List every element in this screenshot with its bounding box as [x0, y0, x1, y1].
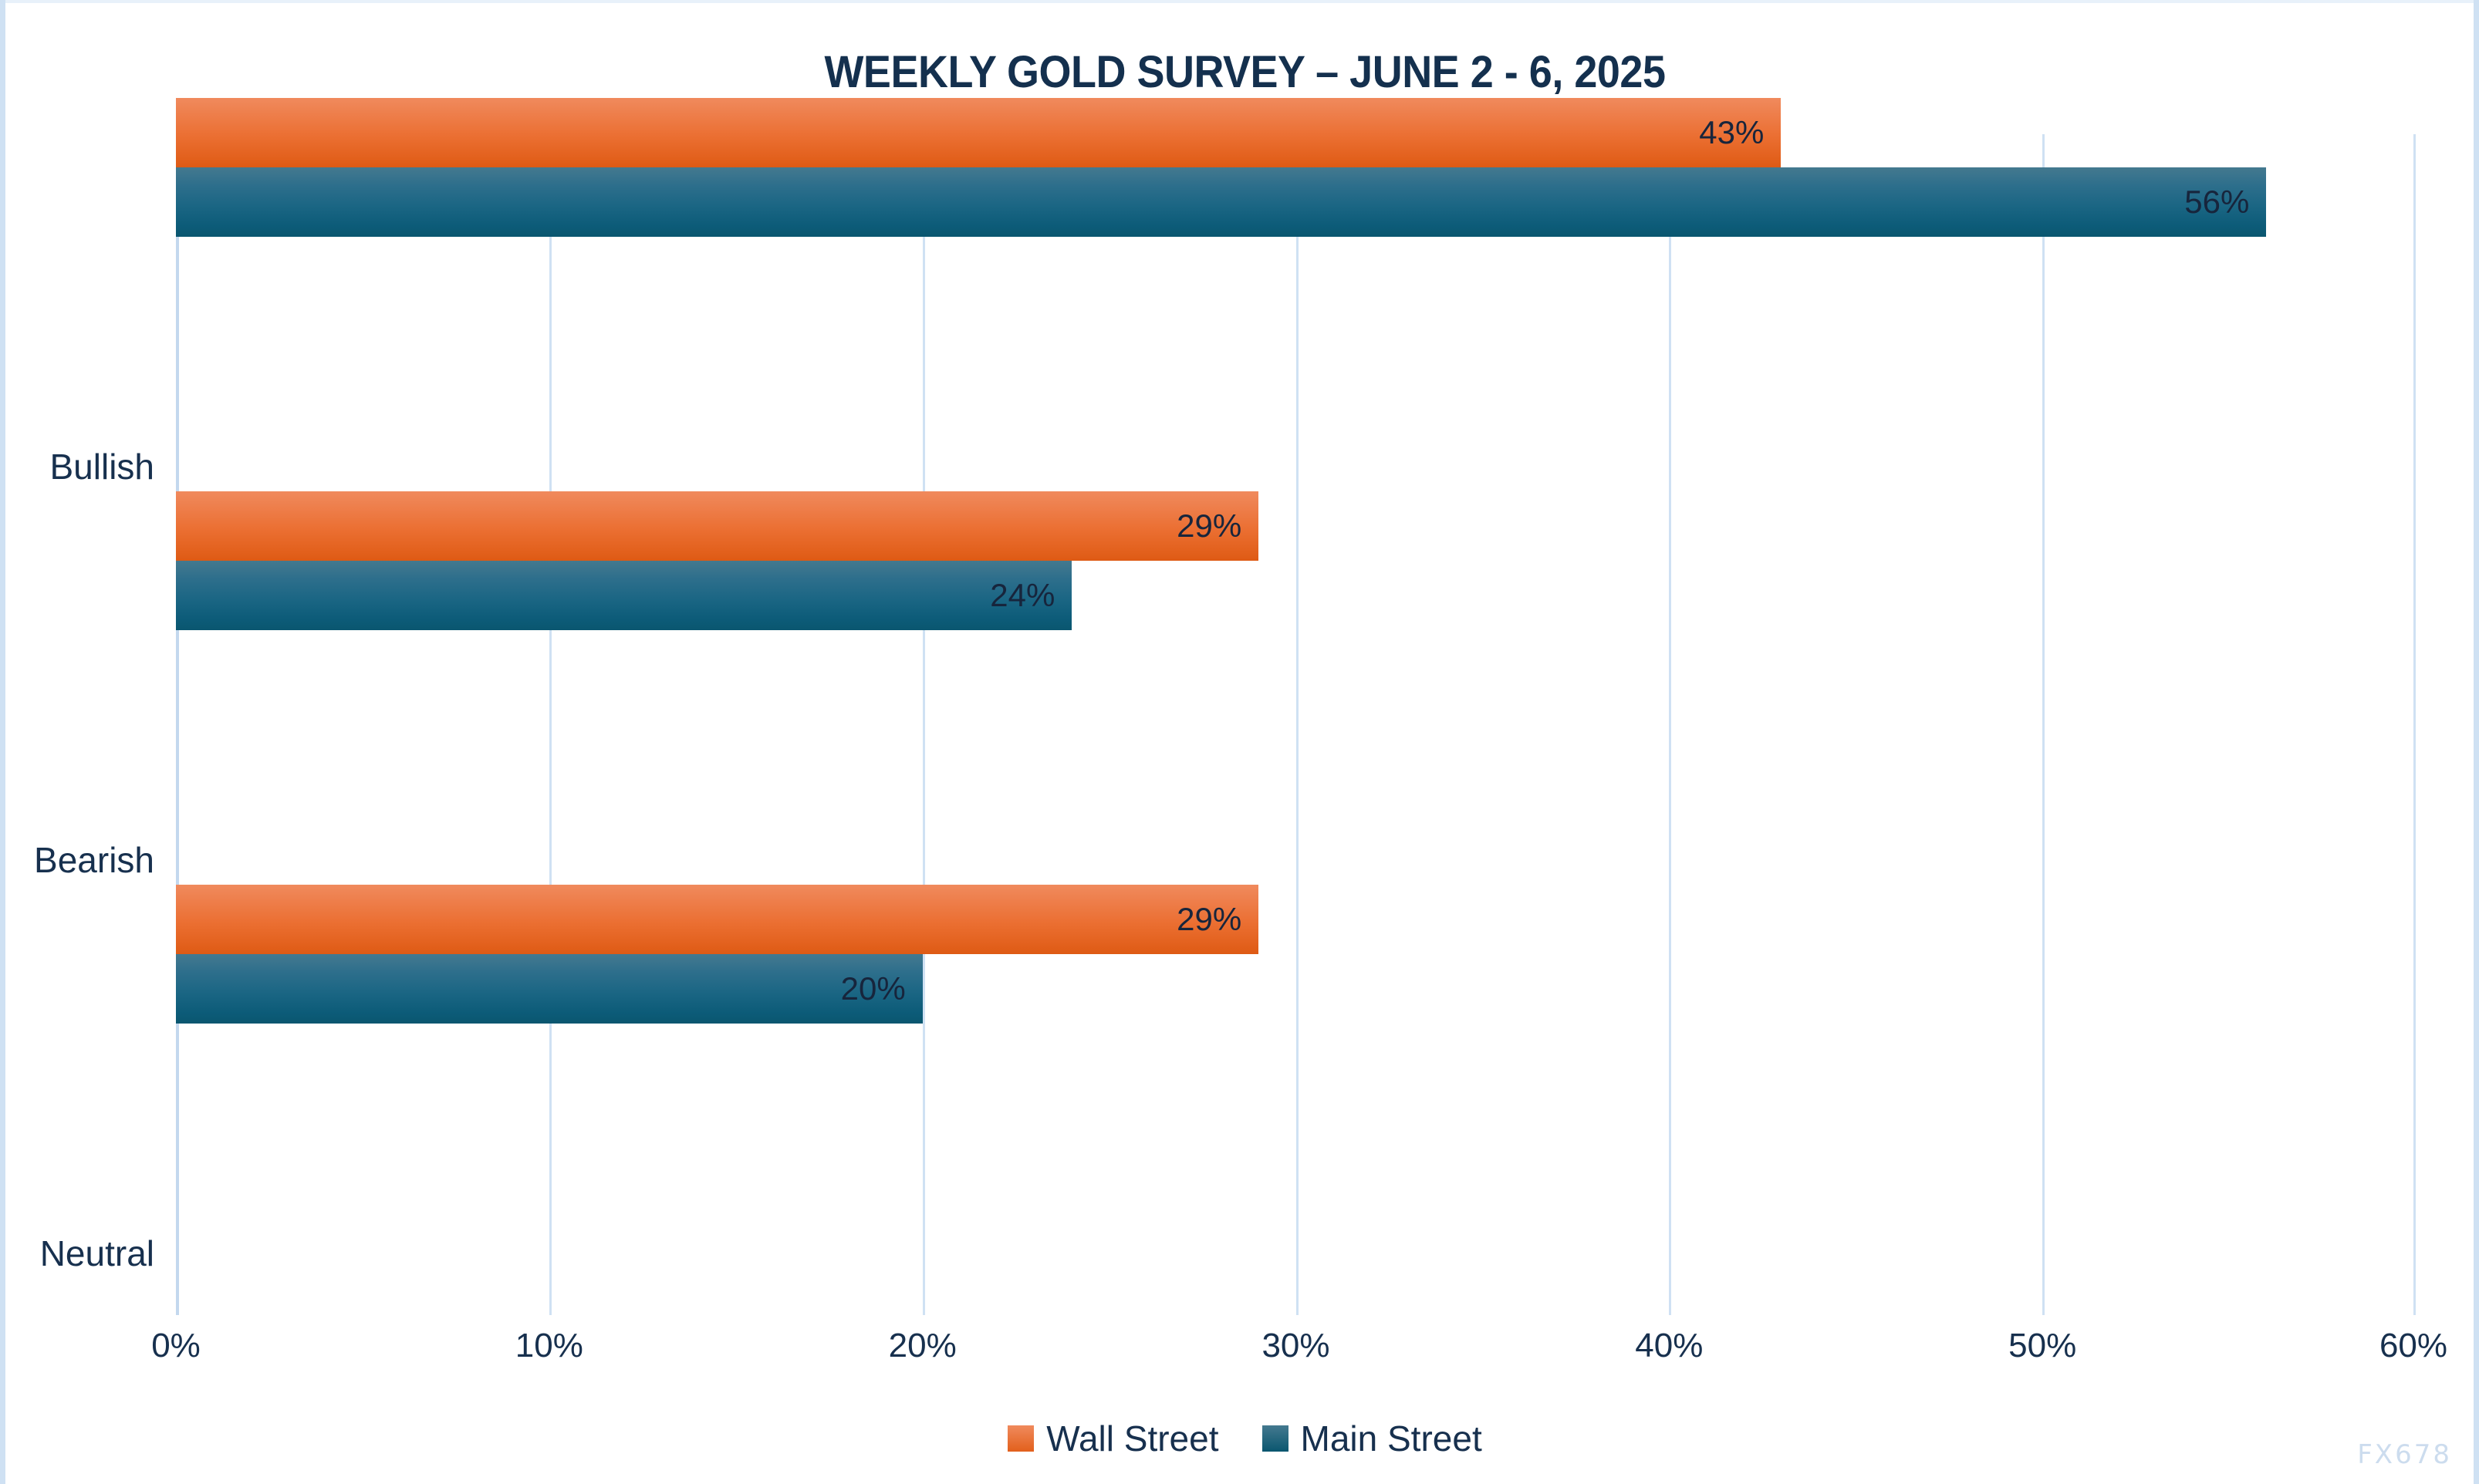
gridline-60 [2413, 134, 2416, 1315]
category-label-0: Bullish [49, 446, 154, 487]
xtick-label-4: 40% [1635, 1327, 1703, 1365]
bar-wall-street-bullish[interactable]: 43% [176, 98, 1781, 167]
bar-main-street-neutral[interactable]: 20% [176, 954, 923, 1024]
bar-main-street-bearish[interactable]: 24% [176, 561, 1072, 630]
bar-main-street-bullish[interactable]: 56% [176, 167, 2266, 237]
category-label-2: Neutral [40, 1233, 154, 1274]
category-label-1: Bearish [34, 839, 154, 881]
legend-label: Wall Street [1046, 1418, 1218, 1459]
bar-value-label: 29% [1177, 901, 1241, 938]
legend-item-main-street[interactable]: Main Street [1262, 1418, 1482, 1459]
bar-wall-street-neutral[interactable]: 29% [176, 885, 1258, 954]
bar-wall-street-bearish[interactable]: 29% [176, 491, 1258, 561]
category-axis-labels: Bullish Bearish Neutral [5, 134, 176, 1315]
watermark: FX678 [2357, 1439, 2452, 1470]
xtick-label-3: 30% [1261, 1327, 1329, 1365]
chart-page: WEEKLY GOLD SURVEY – JUNE 2 - 6, 2025 Bu… [0, 0, 2479, 1484]
legend-item-wall-street[interactable]: Wall Street [1008, 1418, 1218, 1459]
legend-swatch-icon [1008, 1425, 1034, 1452]
bar-value-label: 56% [2184, 184, 2249, 221]
value-axis-tick-labels: 0% 10% 20% 30% 40% 50% 60% [176, 1327, 2416, 1373]
bar-value-label: 20% [841, 970, 906, 1007]
bar-value-label: 43% [1699, 114, 1764, 151]
gridline-30 [1296, 134, 1299, 1315]
xtick-label-6: 60% [2379, 1327, 2447, 1365]
xtick-label-0: 0% [151, 1327, 201, 1365]
xtick-label-5: 50% [2008, 1327, 2076, 1365]
plot-area: 43% 56% 29% 24% 29% 20% [176, 134, 2416, 1315]
legend-swatch-icon [1262, 1425, 1288, 1452]
chart-legend: Wall Street Main Street [5, 1418, 2479, 1459]
legend-label: Main Street [1301, 1418, 1482, 1459]
gridline-40 [1669, 134, 1671, 1315]
gridline-50 [2042, 134, 2045, 1315]
chart-title: WEEKLY GOLD SURVEY – JUNE 2 - 6, 2025 [92, 46, 2397, 98]
value-axis-line [176, 134, 179, 1315]
xtick-label-2: 20% [889, 1327, 957, 1365]
xtick-label-1: 10% [515, 1327, 583, 1365]
bar-value-label: 24% [990, 577, 1055, 614]
gridline-20 [923, 134, 925, 1315]
bar-value-label: 29% [1177, 508, 1241, 545]
gridline-10 [549, 134, 552, 1315]
